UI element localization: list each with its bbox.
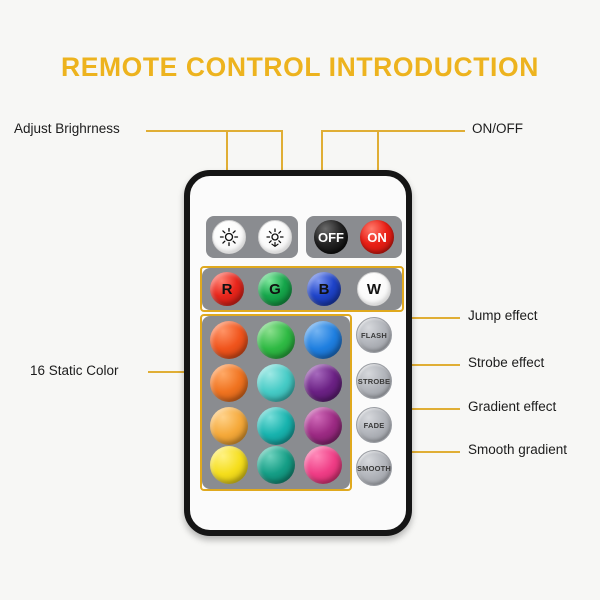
callout-label-adjust-brightness: Adjust Brighrness — [14, 121, 120, 136]
callout-label-smooth-gradient: Smooth gradient — [468, 442, 567, 457]
callout-label-strobe-effect: Strobe effect — [468, 355, 544, 370]
static-color-highlight-ring — [200, 314, 352, 491]
illustration-canvas: REMOTE CONTROL INTRODUCTION Adjust Brigh… — [0, 0, 600, 600]
leader-line-onoff-horizontal — [321, 130, 465, 132]
power-panel: OFF ON — [306, 216, 402, 258]
leader-line-brightness-horizontal — [146, 130, 282, 132]
brightness-panel — [206, 216, 298, 258]
rgbw-highlight-ring — [200, 266, 404, 312]
leader-line-strobe-effect — [408, 364, 460, 366]
leader-line-smooth-gradient — [408, 451, 460, 453]
sun-bright-icon — [219, 227, 239, 247]
flash-button[interactable]: FLASH — [356, 317, 392, 353]
callout-label-jump-effect: Jump effect — [468, 308, 538, 323]
fade-button[interactable]: FADE — [356, 407, 392, 443]
page-title: REMOTE CONTROL INTRODUCTION — [0, 52, 600, 83]
smooth-button[interactable]: SMOOTH — [356, 450, 392, 486]
brightness-down-button[interactable] — [258, 220, 292, 254]
remote-control-device: OFF ON R G B W FLASH S — [184, 170, 412, 536]
callout-label-static-color: 16 Static Color — [30, 363, 119, 378]
off-button[interactable]: OFF — [314, 220, 348, 254]
leader-line-gradient-effect — [408, 408, 460, 410]
callout-label-on-off: ON/OFF — [472, 121, 523, 136]
leader-line-jump-effect — [408, 317, 460, 319]
callout-label-gradient-effect: Gradient effect — [468, 399, 556, 414]
strobe-button[interactable]: STROBE — [356, 363, 392, 399]
on-button[interactable]: ON — [360, 220, 394, 254]
brightness-up-button[interactable] — [212, 220, 246, 254]
sun-dim-icon — [265, 227, 285, 247]
